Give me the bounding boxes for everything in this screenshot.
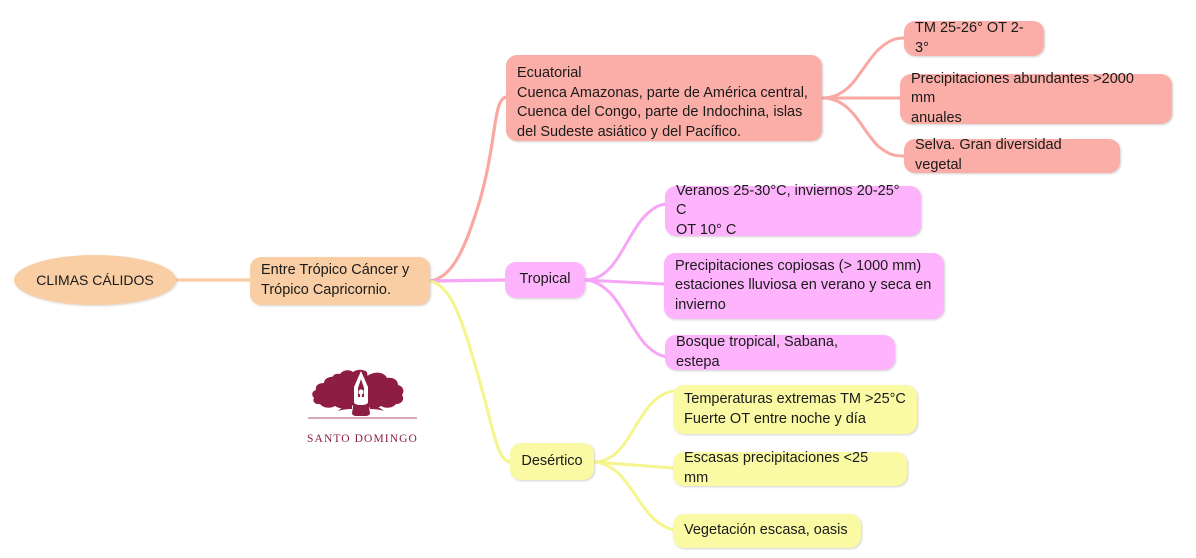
edge-tropical-leaf-1 bbox=[585, 204, 669, 280]
leaf-node-label: Bosque tropical, Sabana, estepa bbox=[676, 333, 884, 372]
root-node-label: CLIMAS CÁLIDOS bbox=[36, 271, 153, 290]
leaf-node-ecuatorial-2[interactable]: Precipitaciones abundantes >2000 mm anua… bbox=[900, 74, 1172, 124]
branch-node-ecuatorial[interactable]: Ecuatorial Cuenca Amazonas, parte de Amé… bbox=[506, 55, 822, 141]
leaf-node-label: Vegetación escasa, oasis bbox=[684, 521, 848, 541]
branch-node-ecuatorial-label: Ecuatorial Cuenca Amazonas, parte de Amé… bbox=[517, 64, 808, 142]
leaf-node-ecuatorial-1[interactable]: TM 25-26° OT 2-3° bbox=[904, 21, 1044, 56]
leaf-node-label: Temperaturas extremas TM >25°C Fuerte OT… bbox=[684, 390, 906, 429]
trunk-node[interactable]: Entre Trópico Cáncer y Trópico Capricorn… bbox=[250, 257, 430, 305]
edge-desertico-leaf-1 bbox=[594, 391, 677, 462]
leaf-node-tropical-1[interactable]: Veranos 25-30°C, inviernos 20-25° C OT 1… bbox=[665, 186, 921, 236]
edge-ecuatorial-leaf-3 bbox=[822, 98, 904, 156]
leaf-node-desertico-3[interactable]: Vegetación escasa, oasis bbox=[673, 514, 861, 548]
leaf-node-label: Selva. Gran diversidad vegetal bbox=[915, 136, 1109, 175]
leaf-node-label: Escasas precipitaciones <25 mm bbox=[684, 449, 896, 488]
edge-tropical-leaf-2 bbox=[585, 280, 664, 284]
root-node[interactable]: CLIMAS CÁLIDOS bbox=[14, 255, 176, 305]
logo-divider bbox=[308, 417, 417, 419]
branch-node-tropical[interactable]: Tropical bbox=[505, 262, 585, 298]
edge-desertico-leaf-3 bbox=[594, 462, 679, 530]
leaf-node-desertico-2[interactable]: Escasas precipitaciones <25 mm bbox=[673, 452, 907, 486]
edge-trunk-to-desertico bbox=[430, 281, 510, 462]
tree-with-pen-nib-icon bbox=[305, 357, 420, 419]
edge-ecuatorial-leaf-1 bbox=[822, 38, 904, 98]
santo-domingo-logo: SANTO DOMINGO bbox=[305, 357, 420, 445]
edge-trunk-to-ecuatorial bbox=[430, 97, 506, 281]
leaf-node-tropical-2[interactable]: Precipitaciones copiosas (> 1000 mm) est… bbox=[664, 253, 944, 319]
trunk-node-label: Entre Trópico Cáncer y Trópico Capricorn… bbox=[261, 261, 409, 300]
leaf-node-tropical-3[interactable]: Bosque tropical, Sabana, estepa bbox=[665, 335, 895, 370]
leaf-node-label: Precipitaciones abundantes >2000 mm anua… bbox=[911, 70, 1161, 129]
branch-node-desertico-label: Desértico bbox=[521, 452, 582, 472]
leaf-node-label: Precipitaciones copiosas (> 1000 mm) est… bbox=[675, 257, 931, 316]
edge-trunk-to-tropical bbox=[430, 280, 505, 281]
leaf-node-label: TM 25-26° OT 2-3° bbox=[915, 19, 1033, 58]
logo-wordmark: SANTO DOMINGO bbox=[305, 433, 420, 445]
edge-tropical-leaf-3 bbox=[585, 280, 671, 357]
branch-node-desertico[interactable]: Desértico bbox=[510, 443, 594, 480]
leaf-node-desertico-1[interactable]: Temperaturas extremas TM >25°C Fuerte OT… bbox=[673, 385, 917, 434]
branch-node-tropical-label: Tropical bbox=[519, 270, 570, 290]
leaf-node-label: Veranos 25-30°C, inviernos 20-25° C OT 1… bbox=[676, 182, 910, 241]
edge-desertico-leaf-2 bbox=[594, 462, 673, 468]
mindmap-canvas: CLIMAS CÁLIDOS Entre Trópico Cáncer y Tr… bbox=[0, 0, 1196, 558]
leaf-node-ecuatorial-3[interactable]: Selva. Gran diversidad vegetal bbox=[904, 139, 1120, 173]
